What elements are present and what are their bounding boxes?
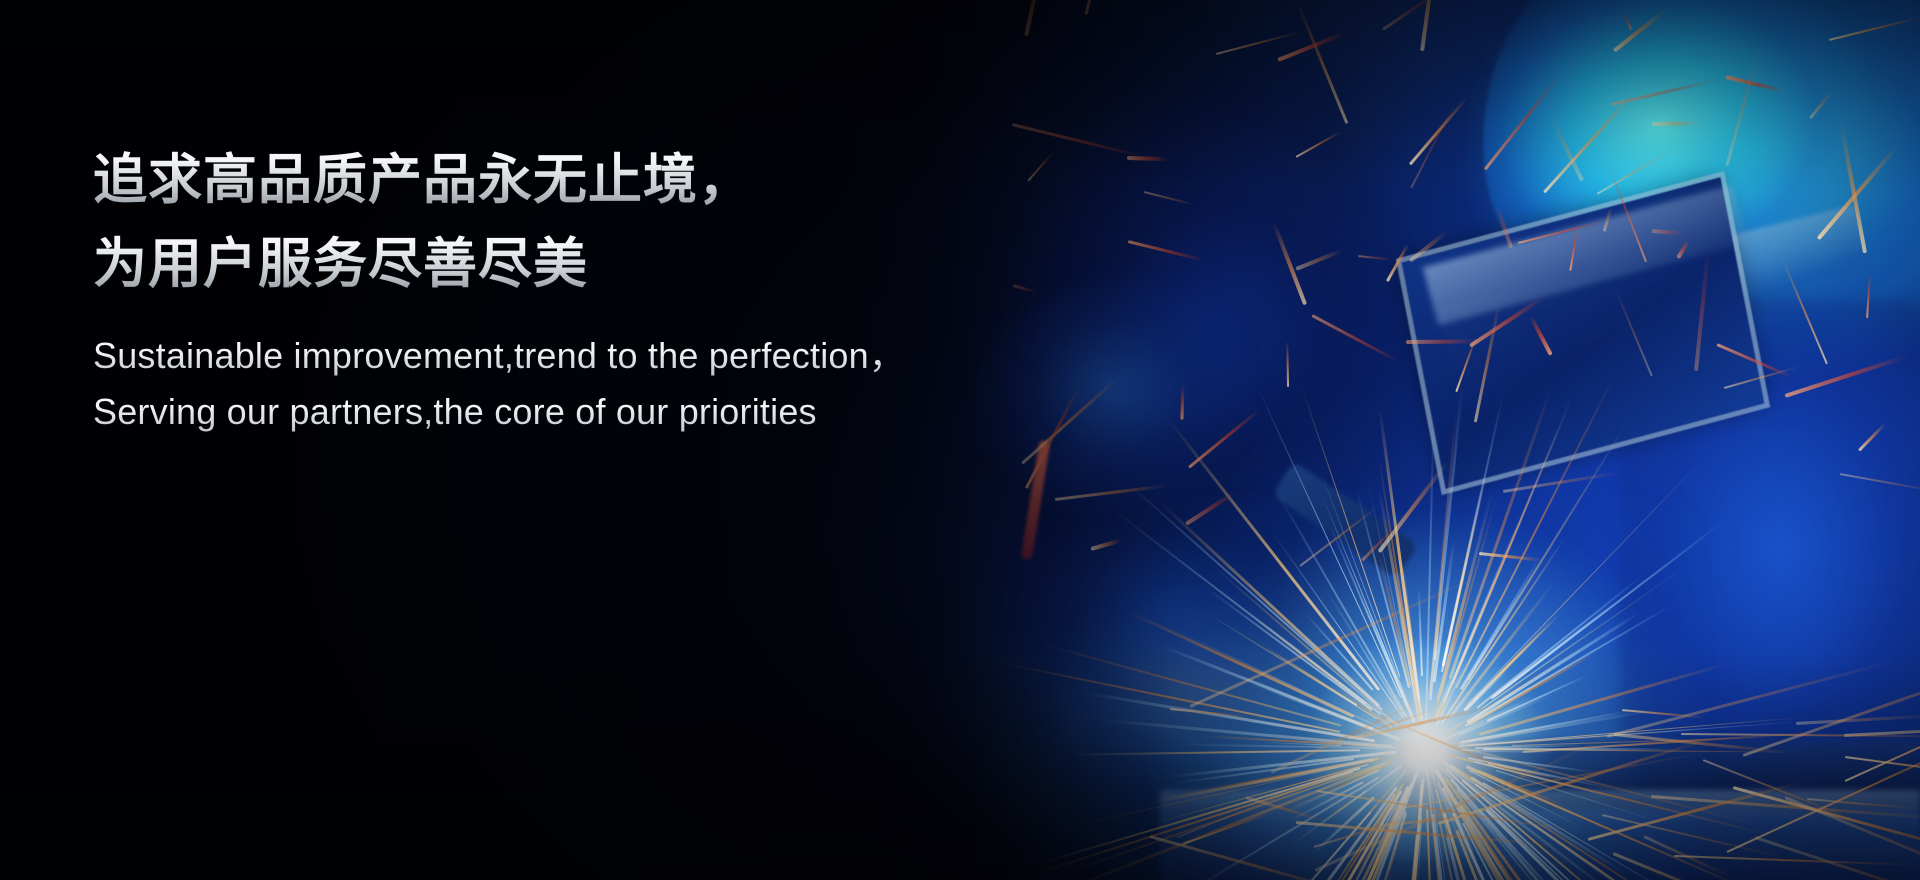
headline-line-1: 追求高品质产品永无止境， [93, 138, 905, 222]
welding-scene-photo [0, 0, 1920, 880]
headline-line-2: 为用户服务尽善尽美 [93, 222, 905, 306]
subheadline-block: Sustainable improvement,trend to the per… [93, 328, 905, 440]
subheadline-line-1: Sustainable improvement,trend to the per… [93, 328, 905, 384]
vignette-overlay [0, 0, 1920, 880]
subheadline-line-2: Serving our partners,the core of our pri… [93, 384, 905, 440]
hero-copy-block: 追求高品质产品永无止境， 为用户服务尽善尽美 Sustainable impro… [93, 138, 905, 440]
hero-banner: 追求高品质产品永无止境， 为用户服务尽善尽美 Sustainable impro… [0, 0, 1920, 880]
